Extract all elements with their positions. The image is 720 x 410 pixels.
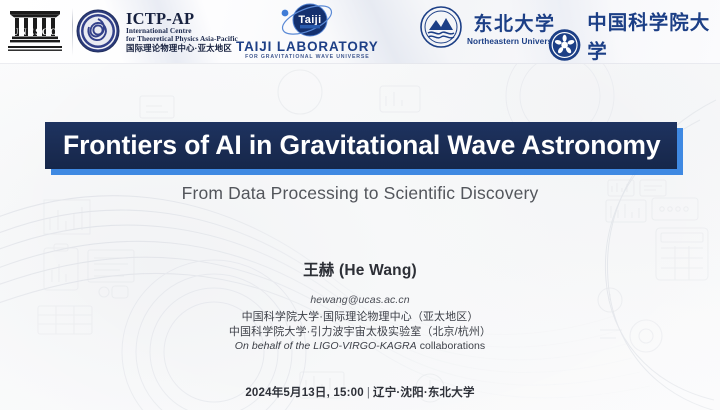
event-venue: 辽宁·沈阳·东北大学 [373, 387, 475, 399]
neu-title-chinese: 东北大学 [474, 9, 556, 36]
taiji-subtitle: FOR GRAVITATIONAL WAVE UNIVERSE [245, 54, 369, 60]
ucas-title-chinese: 中国科学院大学 [587, 6, 720, 64]
ictp-ap-logo: ICTP-AP International Centre for Theoret… [76, 5, 238, 57]
taiji-title: TAIJI LABORATORY [236, 39, 379, 54]
logo-divider [72, 8, 73, 56]
collaboration-statement: On behalf of the LIGO-VIRGO-KAGRA collab… [0, 340, 720, 352]
event-datetime-venue: 2024年5月13日, 15:00|辽宁·沈阳·东北大学 [0, 384, 720, 400]
footer-separator: | [364, 387, 373, 399]
unesco-wordmark: UNESCO [12, 28, 59, 38]
header-logo-band: UNESCO [0, 0, 720, 64]
speaker-email: hewang@ucas.ac.cn [0, 294, 720, 306]
ictp-subtitle-line2: for Theoretical Physics Asia-Pacific [126, 35, 238, 43]
taiji-orbit-icon: Taiji [276, 2, 338, 38]
speaker-affiliation-2: 中国科学院大学·引力波宇宙太极实验室（北京/杭州） [0, 323, 720, 339]
unesco-logo: UNESCO [6, 5, 64, 57]
taiji-laboratory-logo: Taiji TAIJI LABORATORY FOR GRAVITATIONAL… [236, 2, 379, 60]
ucas-logo: 中国科学院大学 University of Chinese Academy of… [548, 6, 720, 64]
collaboration-name: On behalf of the LIGO-VIRGO-KAGRA [235, 340, 417, 352]
neu-seal-icon [420, 6, 462, 48]
ucas-seal-icon [548, 24, 581, 65]
ictp-title: ICTP-AP [126, 10, 238, 27]
northeastern-university-logo: 东北大学 Northeastern University [420, 6, 562, 48]
title-banner: Frontiers of AI in Gravitational Wave As… [45, 122, 677, 169]
unesco-temple-icon: UNESCO [6, 5, 64, 57]
ictp-trefoil-icon [76, 9, 120, 53]
taiji-mark-text: Taiji [299, 14, 322, 26]
collaboration-suffix: collaborations [417, 340, 485, 352]
speaker-affiliation-1: 中国科学院大学·国际理论物理中心（亚太地区） [0, 308, 720, 324]
ictp-subtitle-chinese: 国际理论物理中心·亚太地区 [126, 44, 238, 53]
event-date: 2024年5月13日, 15:00 [245, 387, 363, 399]
presentation-slide: UNESCO [0, 0, 720, 410]
page-subtitle: From Data Processing to Scientific Disco… [0, 183, 720, 204]
speaker-name: 王赫 (He Wang) [0, 258, 720, 280]
logo-row: UNESCO [0, 0, 720, 63]
page-title: Frontiers of AI in Gravitational Wave As… [63, 130, 661, 161]
